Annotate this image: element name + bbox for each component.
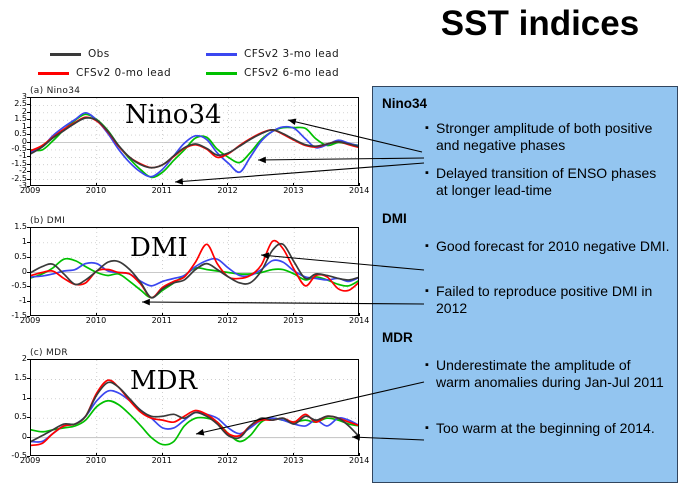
y-axis-tick-mark [27, 417, 30, 418]
y-axis-tick-mark [27, 398, 30, 399]
legend-swatch-cfsv2-6mo [206, 72, 237, 75]
callout-heading-dmi: DMI [382, 211, 407, 226]
y-axis-tick-mark [27, 104, 30, 105]
x-axis-tick-label: 2014 [349, 317, 369, 325]
callout-bullet: ▪ Delayed transition of ENSO phases at l… [425, 165, 665, 199]
y-axis-tick-mark [27, 359, 30, 360]
x-axis-tick-label: 2009 [20, 317, 40, 325]
x-axis-tick-label: 2013 [283, 317, 303, 325]
callout-bullet-text: Stronger amplitude of both positive and … [436, 120, 665, 154]
x-axis-tick-label: 2014 [349, 457, 369, 465]
x-axis-tick-label: 2012 [217, 457, 237, 465]
y-axis-tick-mark [27, 227, 30, 228]
y-axis-tick-label: -1 [1, 297, 27, 305]
chart-panel-dmi: (b) DMI DMI 1.510.50-0.5-1-1.52009201020… [0, 216, 370, 332]
y-axis-tick-mark [27, 242, 30, 243]
y-axis-tick-label: 0.5 [1, 413, 27, 421]
x-axis-tick-label: 2010 [86, 187, 106, 195]
callout-bullet-text: Underestimate the amplitude of warm anom… [436, 357, 668, 391]
legend-label-cfsv2-3mo: CFSv2 3-mo lead [244, 48, 339, 60]
bullet-marker-icon: ▪ [425, 120, 436, 137]
y-axis-tick-label: 1.5 [1, 374, 27, 382]
x-axis-tick-label: 2010 [86, 317, 106, 325]
callout-bullet: ▪ Stronger amplitude of both positive an… [425, 120, 665, 154]
y-axis-tick-mark [27, 156, 30, 157]
callout-bullet: ▪ Too warm at the beginning of 2014. [425, 420, 668, 437]
x-axis-tick-label: 2011 [152, 317, 172, 325]
y-axis-tick-label: 0.5 [1, 253, 27, 261]
y-axis-tick-mark [27, 171, 30, 172]
x-axis-tick-mark [30, 453, 31, 456]
bullet-marker-icon: ▪ [425, 420, 436, 437]
x-axis-tick-mark [227, 453, 228, 456]
x-axis-tick-mark [96, 453, 97, 456]
callout-bullet: ▪ Good forecast for 2010 negative DMI. [425, 238, 670, 255]
plot-area-dmi [30, 227, 359, 316]
bullet-marker-icon: ▪ [425, 357, 436, 374]
y-axis-tick-label: 1 [1, 394, 27, 402]
bullet-marker-icon: ▪ [425, 238, 436, 255]
chart-panel-nino34: (a) Nino34 Nino34 32.521.510.50-0.5-1-1.… [0, 86, 370, 202]
x-axis-tick-mark [162, 313, 163, 316]
y-axis-tick-mark [27, 179, 30, 180]
x-axis-tick-label: 2009 [20, 187, 40, 195]
x-axis-tick-mark [162, 453, 163, 456]
legend-swatch-obs [50, 53, 81, 56]
legend-item-cfsv2-0mo: CFSv2 0-mo lead [38, 67, 171, 79]
y-axis-tick-mark [27, 134, 30, 135]
y-axis-tick-mark [27, 127, 30, 128]
legend-label-cfsv2-6mo: CFSv2 6-mo lead [244, 67, 339, 79]
y-axis-tick-mark [27, 378, 30, 379]
bullet-marker-icon: ▪ [425, 283, 436, 300]
x-axis-tick-mark [96, 313, 97, 316]
y-axis-tick-mark [27, 272, 30, 273]
chart-legend: Obs CFSv2 0-mo lead CFSv2 3-mo lead CFSv… [38, 48, 358, 82]
x-axis-tick-label: 2011 [152, 187, 172, 195]
legend-swatch-cfsv2-3mo [206, 53, 237, 56]
callout-heading-mdr: MDR [382, 330, 413, 345]
y-axis-tick-mark [27, 164, 30, 165]
panel-caption-dmi: (b) DMI [30, 216, 65, 226]
y-axis-tick-mark [27, 301, 30, 302]
bullet-marker-icon: ▪ [425, 165, 436, 182]
y-axis-tick-mark [27, 142, 30, 143]
y-axis-tick-mark [27, 97, 30, 98]
x-axis-tick-mark [293, 453, 294, 456]
legend-swatch-cfsv2-0mo [38, 72, 69, 75]
y-axis-tick-mark [27, 437, 30, 438]
legend-item-cfsv2-3mo: CFSv2 3-mo lead [206, 48, 339, 60]
legend-item-obs: Obs [50, 48, 110, 60]
legend-label-obs: Obs [88, 48, 110, 60]
panel-watermark-mdr: MDR [130, 366, 197, 396]
y-axis-tick-label: 0 [1, 268, 27, 276]
x-axis-tick-label: 2011 [152, 457, 172, 465]
callout-heading-nino34: Nino34 [382, 96, 427, 111]
x-axis-tick-label: 2010 [86, 457, 106, 465]
y-axis-tick-mark [27, 112, 30, 113]
panel-watermark-dmi: DMI [130, 233, 188, 263]
slide-root: SST indices Obs CFSv2 0-mo lead CFSv2 3-… [0, 0, 690, 498]
y-axis-tick-label: 2 [1, 355, 27, 363]
x-axis-tick-mark [293, 313, 294, 316]
legend-item-cfsv2-6mo: CFSv2 6-mo lead [206, 67, 339, 79]
x-axis-tick-mark [227, 183, 228, 186]
callout-bullet-text: Too warm at the beginning of 2014. [436, 420, 668, 437]
x-axis-tick-label: 2009 [20, 457, 40, 465]
y-axis-tick-mark [27, 257, 30, 258]
y-axis-tick-mark [27, 286, 30, 287]
panel-watermark-nino34: Nino34 [125, 100, 222, 130]
callout-bullet-text: Delayed transition of ENSO phases at lon… [436, 165, 665, 199]
x-axis-tick-label: 2012 [217, 187, 237, 195]
x-axis-tick-mark [30, 313, 31, 316]
chart-panel-mdr: (c) MDR MDR 21.510.50-0.5200920102011201… [0, 348, 370, 476]
legend-label-cfsv2-0mo: CFSv2 0-mo lead [76, 67, 171, 79]
x-axis-tick-mark [293, 183, 294, 186]
plot-svg [31, 228, 359, 316]
y-axis-tick-label: 1 [1, 238, 27, 246]
y-axis-tick-mark [27, 149, 30, 150]
x-axis-tick-mark [227, 313, 228, 316]
callout-bullet: ▪ Failed to reproduce positive DMI in 20… [425, 283, 670, 317]
page-title: SST indices [395, 2, 685, 46]
x-axis-tick-label: 2014 [349, 187, 369, 195]
x-axis-tick-mark [359, 313, 360, 316]
x-axis-tick-label: 2012 [217, 317, 237, 325]
y-axis-tick-label: 1.5 [1, 223, 27, 231]
callout-bullet: ▪ Underestimate the amplitude of warm an… [425, 357, 668, 391]
x-axis-tick-label: 2013 [283, 187, 303, 195]
callout-box: Nino34 ▪ Stronger amplitude of both posi… [372, 86, 678, 483]
callout-bullet-text: Good forecast for 2010 negative DMI. [436, 238, 670, 255]
x-axis-tick-label: 2013 [283, 457, 303, 465]
y-axis-tick-label: -0.5 [1, 282, 27, 290]
x-axis-tick-mark [359, 183, 360, 186]
panel-caption-mdr: (c) MDR [30, 348, 68, 358]
x-axis-tick-mark [359, 453, 360, 456]
x-axis-tick-mark [30, 183, 31, 186]
y-axis-tick-mark [27, 119, 30, 120]
x-axis-tick-mark [96, 183, 97, 186]
x-axis-tick-mark [162, 183, 163, 186]
y-axis-tick-label: 0 [1, 433, 27, 441]
panel-caption-nino34: (a) Nino34 [30, 86, 80, 96]
callout-bullet-text: Failed to reproduce positive DMI in 2012 [436, 283, 670, 317]
